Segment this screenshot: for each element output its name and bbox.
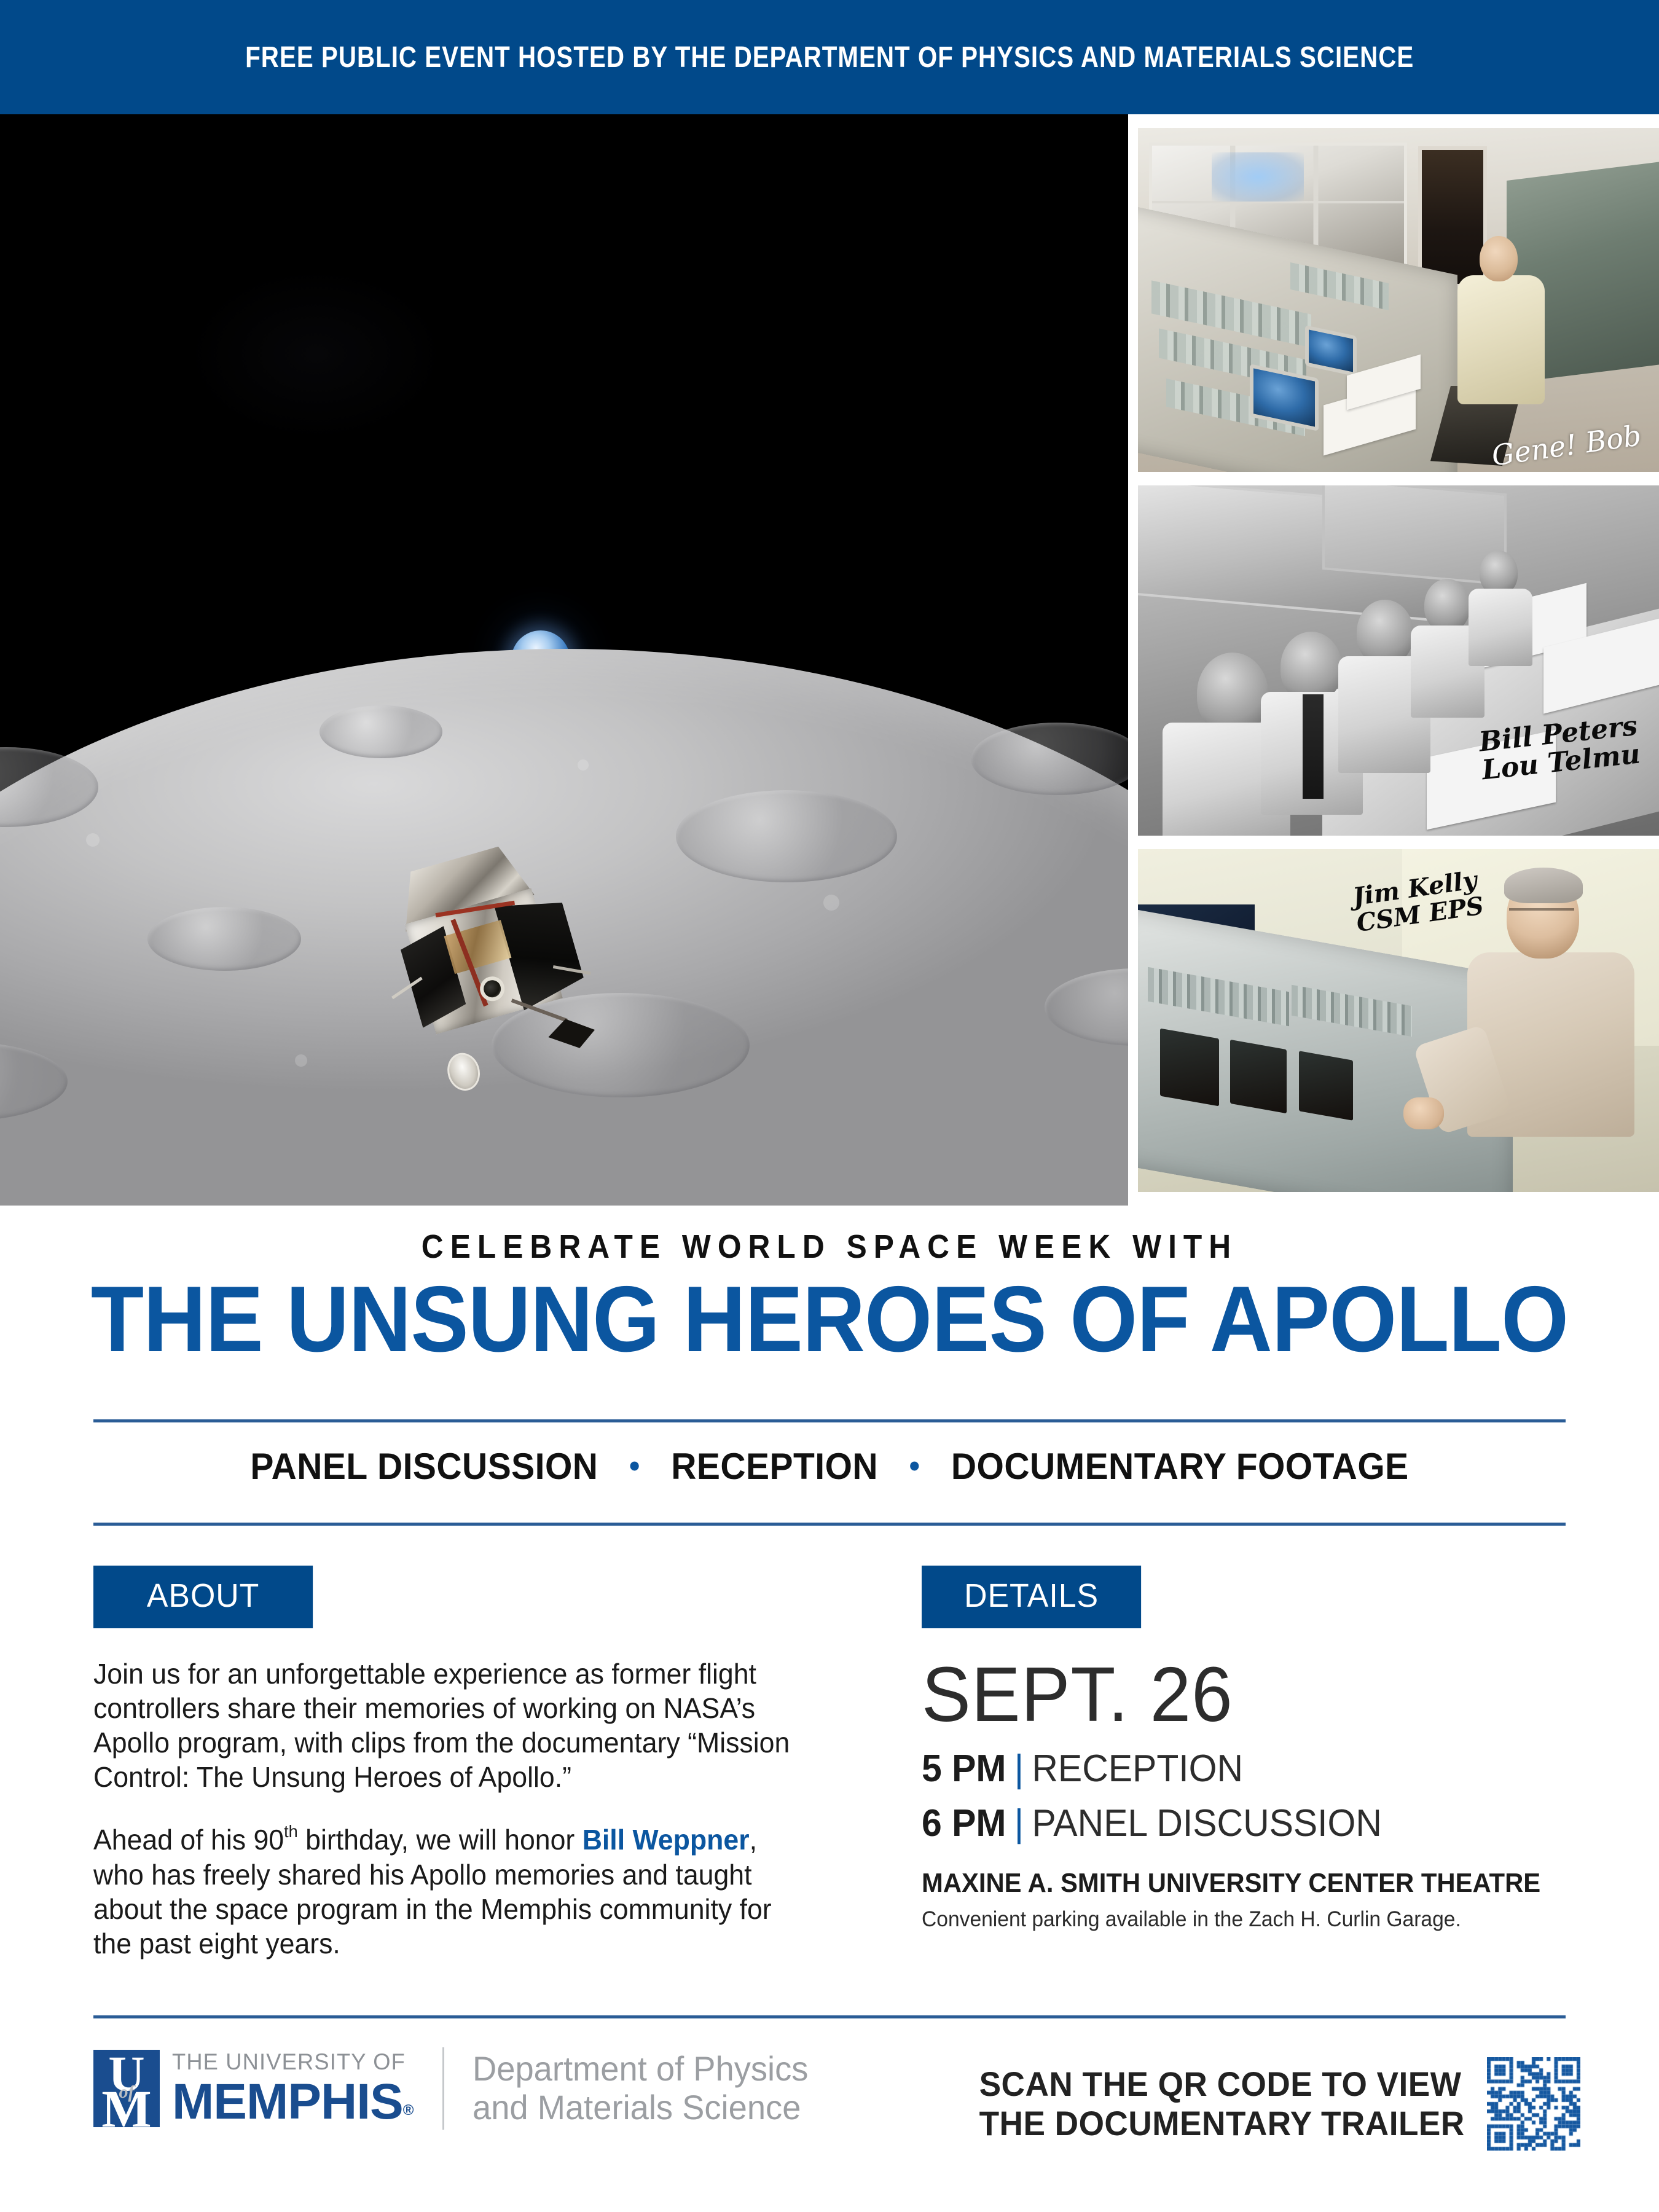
- console-screen: [1160, 1029, 1219, 1107]
- crater: [0, 747, 98, 827]
- crater: [0, 1042, 68, 1121]
- qr-group[interactable]: SCAN THE QR CODE TO VIEW THE DOCUMENTARY…: [954, 2057, 1580, 2151]
- person-head: [1357, 600, 1413, 665]
- surface-speck: [578, 759, 589, 771]
- person-torso: [1457, 275, 1545, 404]
- reception-label: RECEPTION: [1032, 1747, 1243, 1790]
- top-banner: FREE PUBLIC EVENT HOSTED BY THE DEPARTME…: [0, 0, 1659, 114]
- details-column: DETAILS SEPT. 26 5 PM|RECEPTION 6 PM|PAN…: [922, 1566, 1598, 1932]
- person-head: [1480, 236, 1518, 281]
- crater: [320, 705, 442, 758]
- divider-rule-footer: [93, 2015, 1566, 2018]
- department-name: Department of Physics and Materials Scie…: [473, 2050, 808, 2127]
- title-block: CELEBRATE WORLD SPACE WEEK WITH THE UNSU…: [0, 1228, 1659, 1367]
- qr-line-1: SCAN THE QR CODE TO VIEW: [979, 2065, 1465, 2104]
- pipe-separator-icon: |: [1006, 1747, 1032, 1790]
- qr-instruction-text: SCAN THE QR CODE TO VIEW THE DOCUMENTARY…: [979, 2065, 1465, 2143]
- panel-time: 6 PM: [922, 1802, 1006, 1845]
- lm-shadow: [545, 1012, 598, 1056]
- program-subtitle: PANEL DISCUSSION • RECEPTION • DOCUMENTA…: [42, 1445, 1618, 1488]
- about-tag: ABOUT: [93, 1566, 313, 1628]
- subtitle-item-footage: DOCUMENTARY FOOTAGE: [951, 1446, 1409, 1487]
- logo-university-line: THE UNIVERSITY OF: [172, 2050, 409, 2073]
- divider-rule-bottom: [93, 1523, 1566, 1526]
- uofm-logo-mark-icon: U of M: [93, 2050, 160, 2127]
- crater: [971, 723, 1128, 795]
- about-column: ABOUT Join us for an unforgettable exper…: [93, 1566, 818, 1961]
- person-head: [1424, 579, 1470, 632]
- page-title: THE UNSUNG HEROES OF APOLLO: [58, 1272, 1601, 1367]
- divider-rule-top: [93, 1419, 1566, 1422]
- person-head: [1197, 653, 1268, 734]
- venue-name: MAXINE A. SMITH UNIVERSITY CENTER THEATR…: [922, 1868, 1564, 1899]
- window-display-glow: [1212, 152, 1304, 202]
- department-line-1: Department of Physics: [473, 2050, 808, 2088]
- surface-speck: [295, 1054, 307, 1067]
- pipe-separator-icon: |: [1006, 1802, 1032, 1845]
- person-hand: [1403, 1097, 1444, 1129]
- event-poster: FREE PUBLIC EVENT HOSTED BY THE DEPARTME…: [0, 0, 1659, 2212]
- schedule-row-panel: 6 PM|PANEL DISCUSSION: [922, 1801, 1564, 1846]
- crater: [147, 907, 301, 971]
- console-screen: [1299, 1051, 1353, 1121]
- person-head: [1281, 632, 1342, 702]
- panel-label: PANEL DISCUSSION: [1032, 1802, 1382, 1845]
- bullet-dot-icon: •: [888, 1448, 941, 1484]
- university-logo[interactable]: U of M THE UNIVERSITY OF MEMPHIS® Depart…: [93, 2047, 819, 2130]
- surface-speck: [823, 895, 839, 911]
- details-tag: DETAILS: [922, 1566, 1141, 1628]
- subtitle-item-panel: PANEL DISCUSSION: [250, 1446, 598, 1487]
- console-bank-right: [1322, 485, 1507, 586]
- bullet-dot-icon: •: [608, 1448, 661, 1484]
- lm-antenna-dish: [443, 1049, 484, 1094]
- banner-text: FREE PUBLIC EVENT HOSTED BY THE DEPARTME…: [245, 41, 1414, 74]
- footer: U of M THE UNIVERSITY OF MEMPHIS® Depart…: [0, 2028, 1659, 2212]
- about-paragraph-2: Ahead of his 90th birthday, we will hono…: [93, 1821, 797, 1960]
- photo-mission-control-color: Gene! Bob: [1138, 128, 1659, 472]
- registered-trademark-icon: ®: [403, 2102, 414, 2119]
- logo-divider: [442, 2047, 444, 2130]
- schedule-row-reception: 5 PM|RECEPTION: [922, 1746, 1564, 1791]
- about-paragraph-1: Join us for an unforgettable experience …: [93, 1657, 797, 1794]
- qr-code-icon[interactable]: [1487, 2057, 1580, 2151]
- console-screen: [1230, 1040, 1287, 1113]
- image-band: Gene! Bob: [0, 114, 1659, 1206]
- photo-flight-controllers-bw: Bill Peters Lou Telmu: [1138, 485, 1659, 836]
- surface-speck: [86, 833, 100, 847]
- photo-column: Gene! Bob: [1138, 114, 1659, 1206]
- person-torso: [1469, 589, 1532, 666]
- about-p2-before: Ahead of his 90: [93, 1824, 284, 1856]
- reception-time: 5 PM: [922, 1747, 1006, 1790]
- kicker-text: CELEBRATE WORLD SPACE WEEK WITH: [66, 1228, 1593, 1266]
- control-room-door: [1418, 146, 1487, 288]
- crater: [676, 790, 897, 882]
- photo-jim-kelly: Jim Kelly CSM EPS: [1138, 849, 1659, 1192]
- ordinal-superscript: th: [284, 1822, 298, 1841]
- hero-image-moon-lunar-module: [0, 114, 1128, 1206]
- person-necktie: [1303, 694, 1324, 799]
- logo-wordmark: THE UNIVERSITY OF MEMPHIS®: [172, 2050, 413, 2127]
- logo-memphis-text: MEMPHIS: [172, 2074, 403, 2130]
- logo-memphis-line: MEMPHIS®: [172, 2077, 413, 2127]
- parking-note: Convenient parking available in the Zach…: [922, 1907, 1571, 1932]
- department-line-2: and Materials Science: [473, 2088, 808, 2127]
- person-hair: [1504, 868, 1583, 903]
- qr-line-2: THE DOCUMENTARY TRAILER: [979, 2104, 1465, 2143]
- event-date: SEPT. 26: [922, 1653, 1564, 1736]
- crater: [1045, 968, 1128, 1046]
- honoree-name: Bill Weppner: [582, 1824, 750, 1856]
- about-p2-mid: birthday, we will honor: [298, 1824, 582, 1856]
- logo-letter-of: of: [93, 2082, 160, 2103]
- subtitle-item-reception: RECEPTION: [671, 1446, 878, 1487]
- eyeglasses-icon: [1509, 908, 1574, 920]
